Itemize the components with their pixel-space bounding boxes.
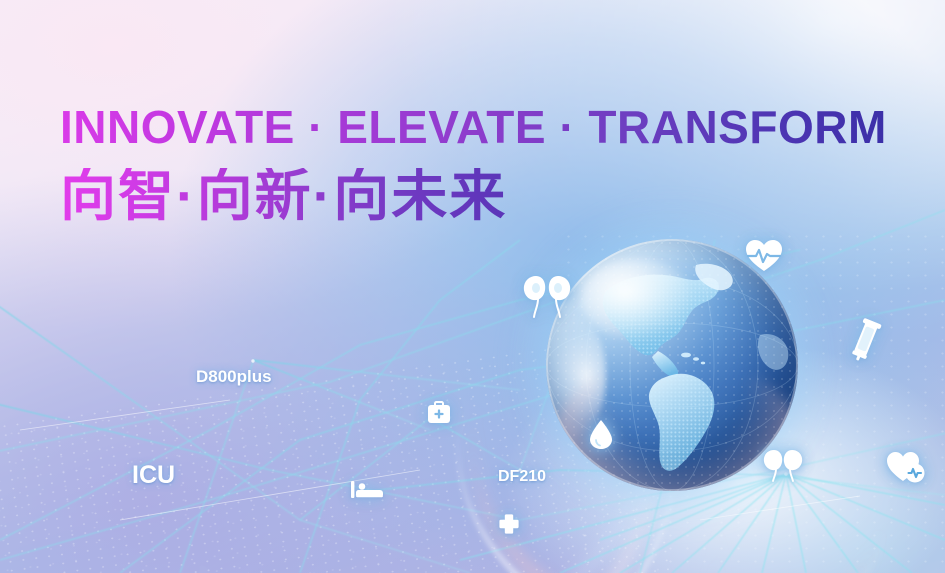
heart-ecg-icon [744, 238, 784, 274]
hospital-bed-icon [350, 478, 384, 500]
hero-banner: D800plus ICU DF210 INNOVATE · ELEVATE · … [0, 0, 945, 573]
product-tag-df210: DF210 [498, 468, 546, 486]
syringe-icon [849, 317, 883, 363]
kidneys-icon [519, 272, 575, 324]
product-tag-d800plus: D800plus [196, 367, 272, 387]
heart-pulse-icon [886, 450, 926, 484]
page-subtitle: 向智·向新·向未来 [60, 168, 507, 224]
medical-cross-icon [498, 513, 520, 535]
kidneys-icon [760, 448, 806, 482]
blood-drop-icon [588, 418, 614, 450]
product-tag-icu: ICU [132, 461, 175, 490]
page-title: INNOVATE · ELEVATE · TRANSFORM [60, 104, 887, 150]
medical-bag-icon [426, 400, 452, 426]
